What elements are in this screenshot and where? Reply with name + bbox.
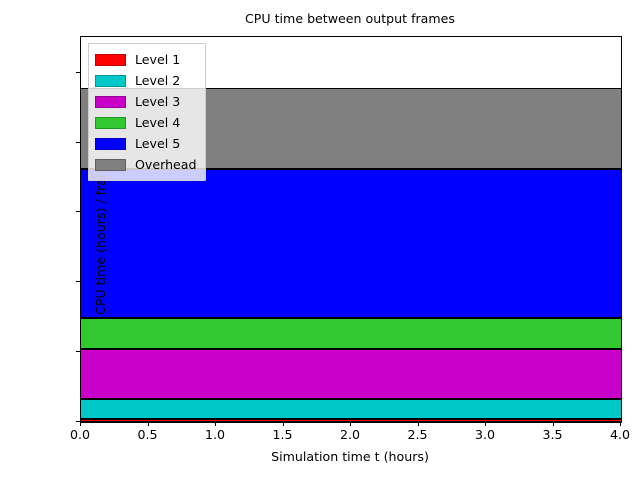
area-band-level-1 bbox=[81, 419, 621, 422]
figure-canvas: CPU time between output frames 0.000.050… bbox=[0, 0, 640, 480]
area-band-level-5 bbox=[81, 169, 621, 318]
legend-label: Level 2 bbox=[135, 73, 180, 88]
y-tick-mark bbox=[76, 281, 80, 282]
x-axis-label: Simulation time t (hours) bbox=[80, 449, 620, 464]
legend-item[interactable]: Overhead bbox=[95, 154, 197, 175]
x-tick-mark bbox=[283, 422, 284, 426]
area-band-level-3 bbox=[81, 349, 621, 399]
legend-item[interactable]: Level 4 bbox=[95, 112, 197, 133]
legend-item[interactable]: Level 2 bbox=[95, 70, 197, 91]
x-tick-label: 4.0 bbox=[580, 427, 640, 442]
chart-title: CPU time between output frames bbox=[80, 11, 620, 26]
x-tick-mark bbox=[215, 422, 216, 426]
x-tick-mark bbox=[418, 422, 419, 426]
x-tick-mark bbox=[620, 422, 621, 426]
legend-swatch-icon bbox=[95, 159, 126, 171]
legend-label: Level 5 bbox=[135, 136, 180, 151]
legend-item[interactable]: Level 3 bbox=[95, 91, 197, 112]
legend-label: Overhead bbox=[135, 157, 197, 172]
area-band-level-4 bbox=[81, 318, 621, 349]
y-tick-mark bbox=[76, 351, 80, 352]
legend-swatch-icon bbox=[95, 75, 126, 87]
y-tick-mark bbox=[76, 211, 80, 212]
x-tick-mark bbox=[350, 422, 351, 426]
legend-item[interactable]: Level 5 bbox=[95, 133, 197, 154]
legend: Level 1Level 2Level 3Level 4Level 5Overh… bbox=[88, 43, 206, 181]
legend-label: Level 3 bbox=[135, 94, 180, 109]
x-tick-mark bbox=[485, 422, 486, 426]
x-tick-mark bbox=[148, 422, 149, 426]
legend-swatch-icon bbox=[95, 54, 126, 66]
y-tick-mark bbox=[76, 142, 80, 143]
x-tick-mark bbox=[553, 422, 554, 426]
x-tick-mark bbox=[80, 422, 81, 426]
legend-label: Level 4 bbox=[135, 115, 180, 130]
area-band-level-2 bbox=[81, 399, 621, 419]
legend-swatch-icon bbox=[95, 96, 126, 108]
y-tick-mark bbox=[76, 72, 80, 73]
legend-swatch-icon bbox=[95, 117, 126, 129]
legend-item[interactable]: Level 1 bbox=[95, 49, 197, 70]
legend-swatch-icon bbox=[95, 138, 126, 150]
legend-label: Level 1 bbox=[135, 52, 180, 67]
